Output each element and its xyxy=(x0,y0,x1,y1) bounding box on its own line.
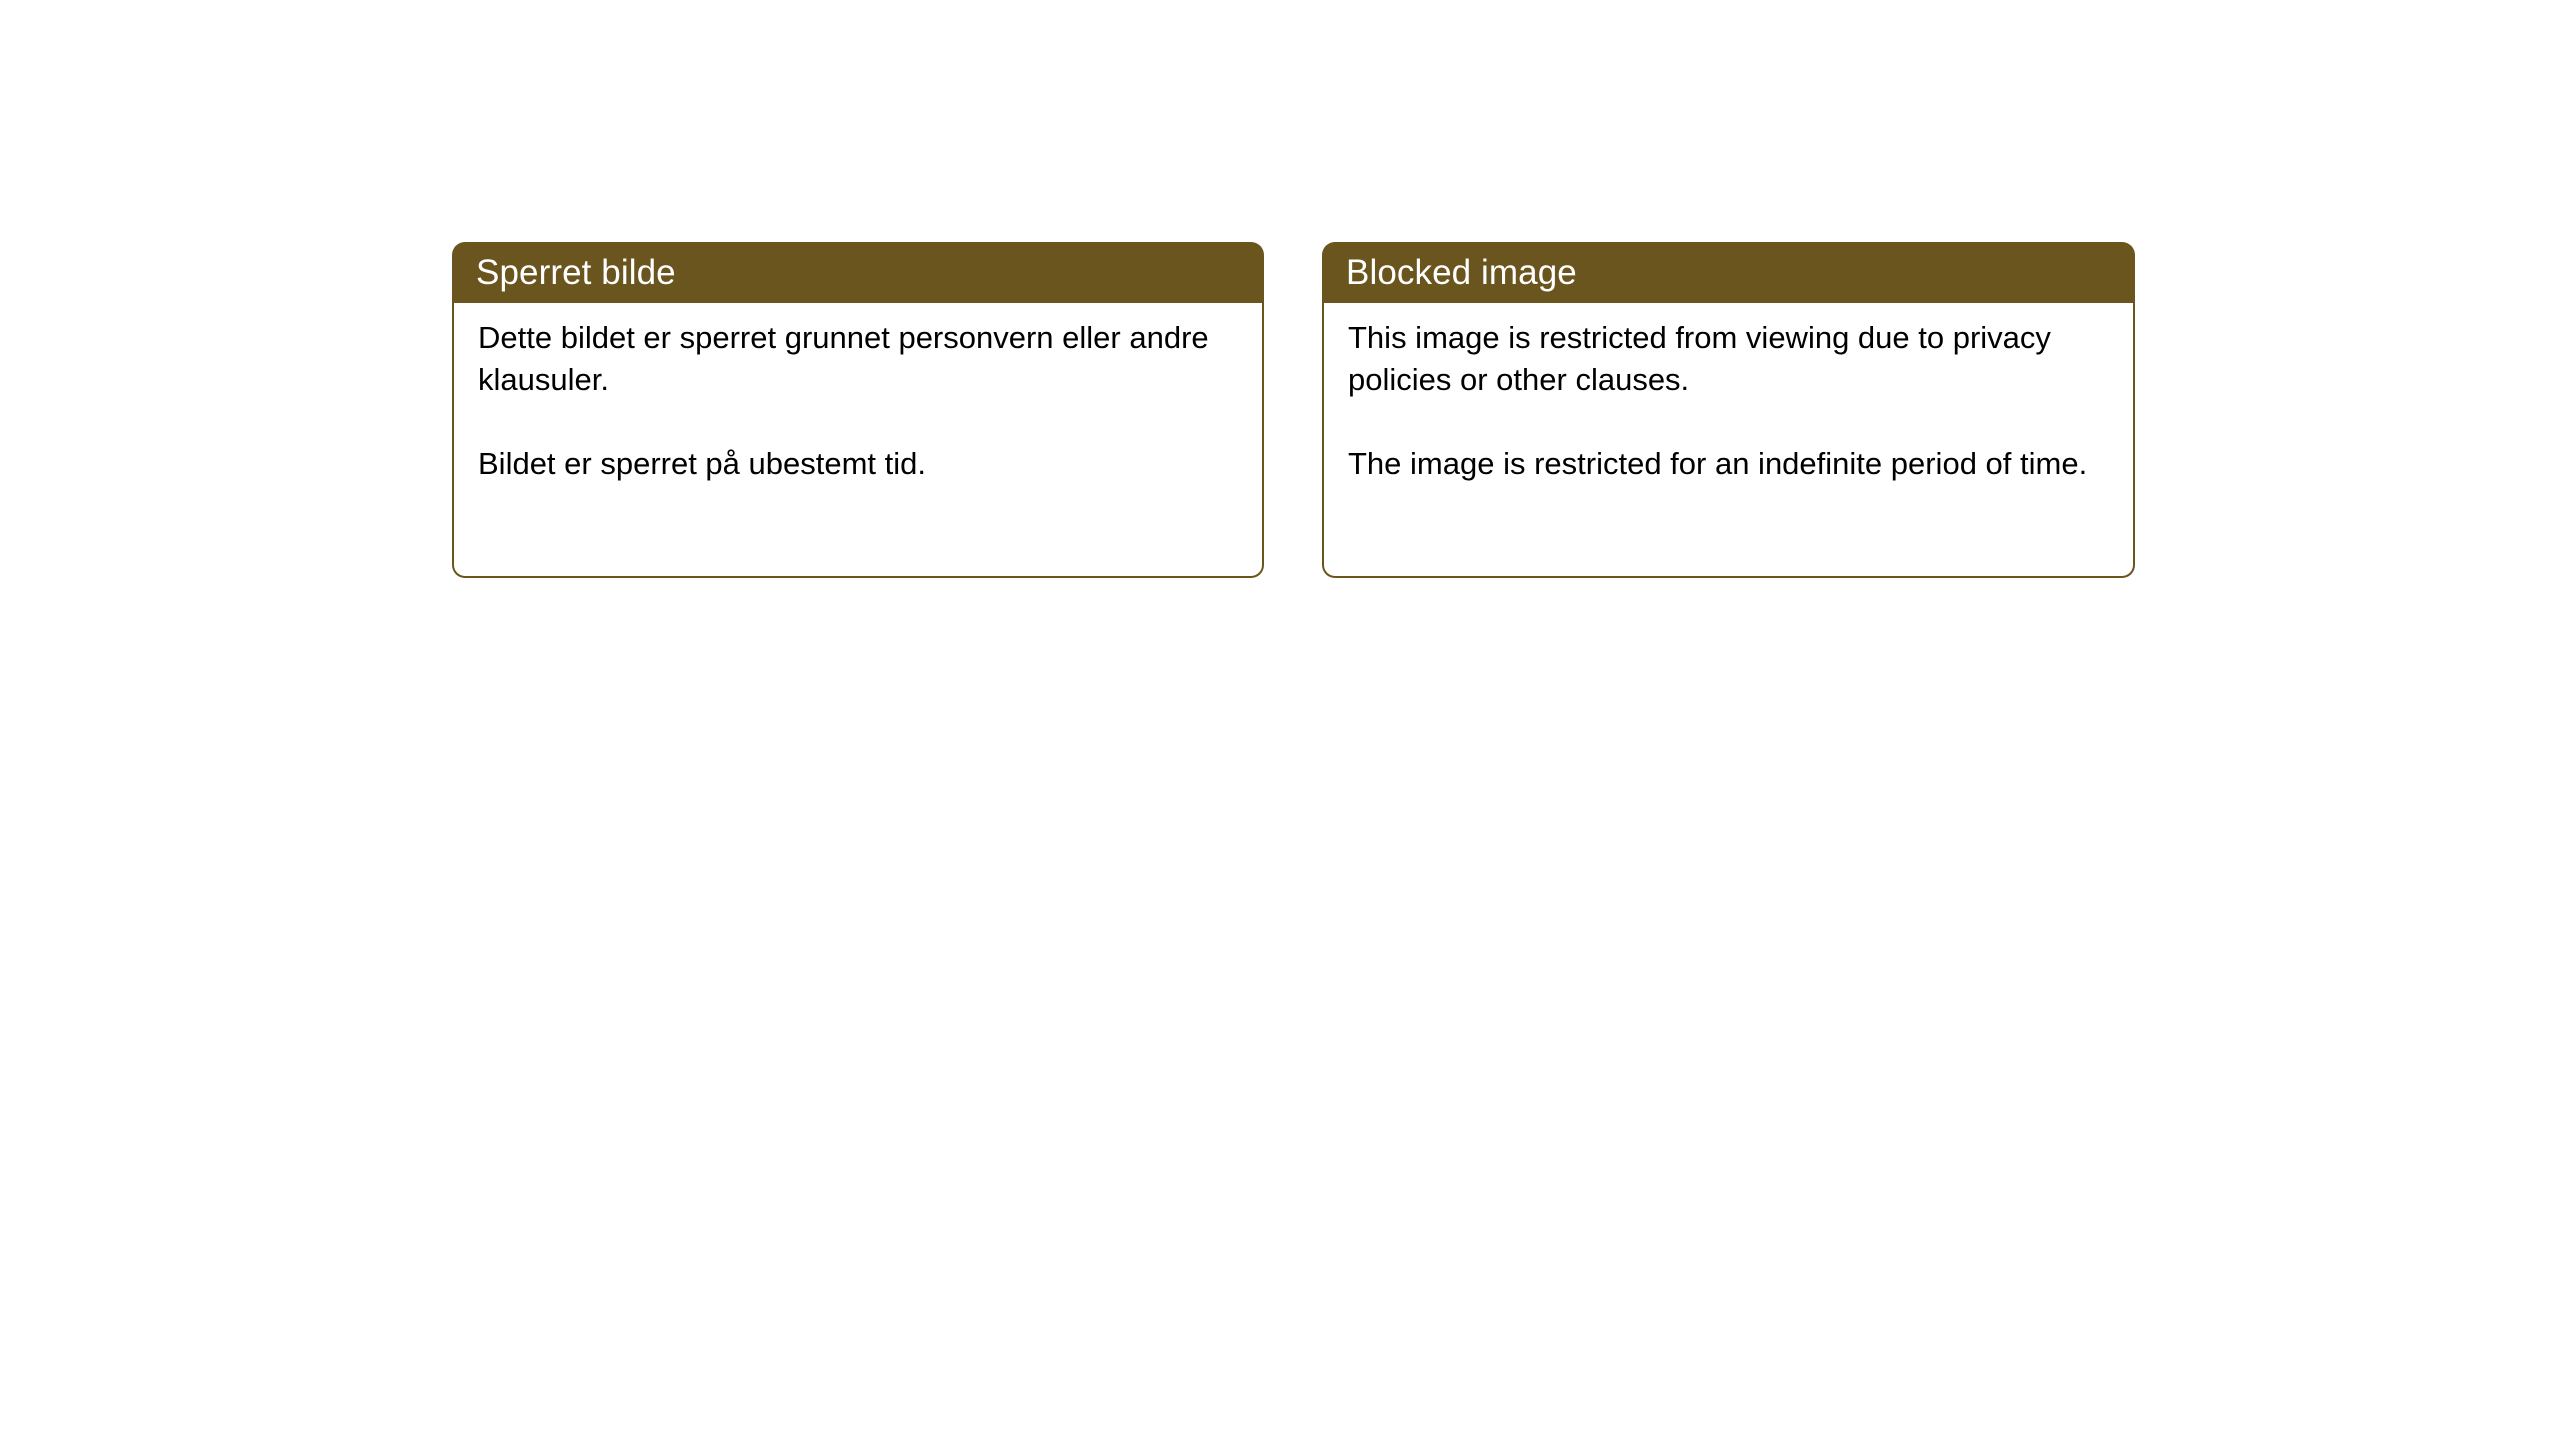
blocked-image-notice-english: Blocked image This image is restricted f… xyxy=(1322,242,2135,578)
panel-body-norwegian: Dette bildet er sperret grunnet personve… xyxy=(452,303,1264,578)
panel-title-english: Blocked image xyxy=(1346,255,1577,290)
panel-paragraph-english-2: The image is restricted for an indefinit… xyxy=(1348,443,2115,485)
panel-paragraph-norwegian-2: Bildet er sperret på ubestemt tid. xyxy=(478,443,1244,485)
page-root: Sperret bilde Dette bildet er sperret gr… xyxy=(0,0,2560,1440)
panel-header-english: Blocked image xyxy=(1322,242,2135,303)
panel-paragraph-norwegian-1: Dette bildet er sperret grunnet personve… xyxy=(478,317,1244,401)
panel-paragraph-english-1: This image is restricted from viewing du… xyxy=(1348,317,2115,401)
panel-body-english: This image is restricted from viewing du… xyxy=(1322,303,2135,578)
panel-header-norwegian: Sperret bilde xyxy=(452,242,1264,303)
panel-title-norwegian: Sperret bilde xyxy=(476,255,676,290)
blocked-image-notice-norwegian: Sperret bilde Dette bildet er sperret gr… xyxy=(452,242,1264,578)
